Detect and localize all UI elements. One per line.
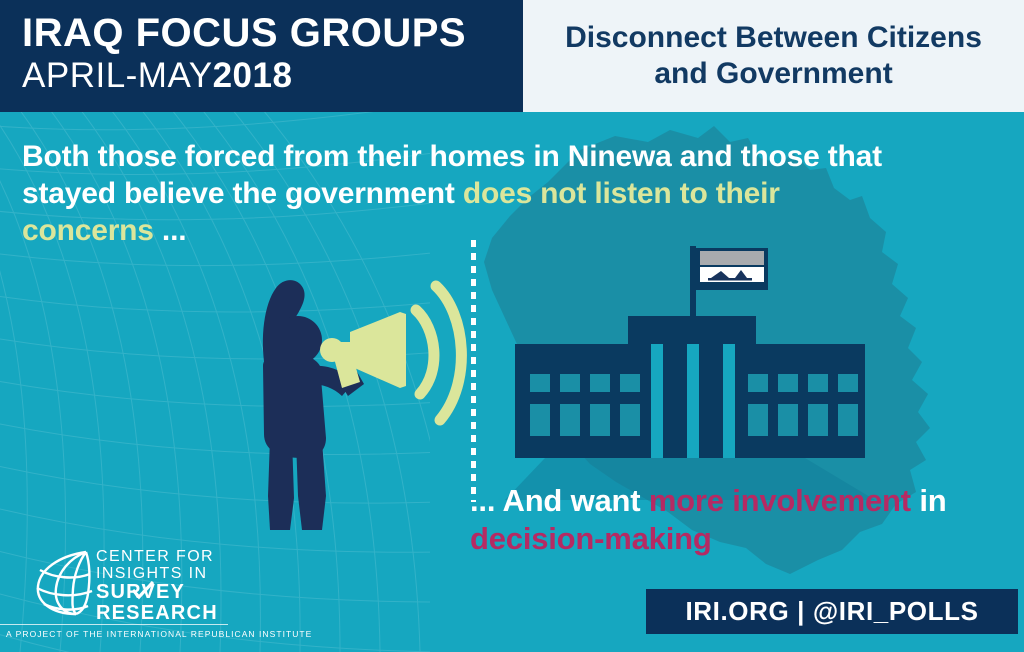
lede-text-part-2: ... — [154, 214, 187, 247]
header-title-block: IRAQ FOCUS GROUPS APRIL-MAY2018 — [0, 0, 523, 112]
checkmark-icon — [130, 581, 156, 601]
kicker-highlight-1: more involvement — [649, 483, 911, 518]
topic-title: Disconnect Between Citizens and Governme… — [523, 20, 1024, 92]
page-title: IRAQ FOCUS GROUPS — [22, 12, 466, 54]
kicker-highlight-2: decision-making — [470, 521, 712, 556]
protester-figure-icon — [230, 258, 480, 548]
lede-statement: Both those forced from their homes in Ni… — [22, 138, 902, 249]
logo-line-2: INSIGHTS IN — [96, 565, 218, 582]
url-badge[interactable]: IRI.ORG | @IRI_POLLS — [646, 589, 1018, 634]
header-topic-panel: Disconnect Between Citizens and Governme… — [523, 0, 1024, 112]
logo-line-4: RESEARCH — [96, 603, 218, 624]
logo-line-1: CENTER FOR — [96, 548, 218, 565]
kicker-text-part-2: in — [911, 483, 947, 518]
page-subtitle-date: APRIL-MAY2018 — [22, 56, 292, 96]
kicker-statement: ... And want more involvement in decisio… — [470, 482, 1018, 558]
government-building-icon — [505, 238, 875, 500]
year-label: 2018 — [213, 56, 293, 95]
url-label: IRI.ORG | @IRI_POLLS — [685, 596, 978, 627]
sound-wave-icon — [416, 286, 461, 420]
logo-wordmark: CENTER FOR INSIGHTS IN SURVEY RESEARCH — [96, 548, 218, 624]
logo-tagline: A PROJECT OF THE INTERNATIONAL REPUBLICA… — [6, 629, 312, 639]
kicker-text-part-1: ... And want — [470, 483, 649, 518]
logo-line-3: SURVEY — [96, 582, 218, 603]
tagline-divider — [0, 624, 228, 625]
date-range-label: APRIL-MAY — [22, 56, 213, 95]
iraq-flag-icon — [696, 248, 768, 290]
infographic-poster: IRAQ FOCUS GROUPS APRIL-MAY2018 Disconne… — [0, 0, 1024, 652]
dotted-divider — [471, 240, 476, 502]
